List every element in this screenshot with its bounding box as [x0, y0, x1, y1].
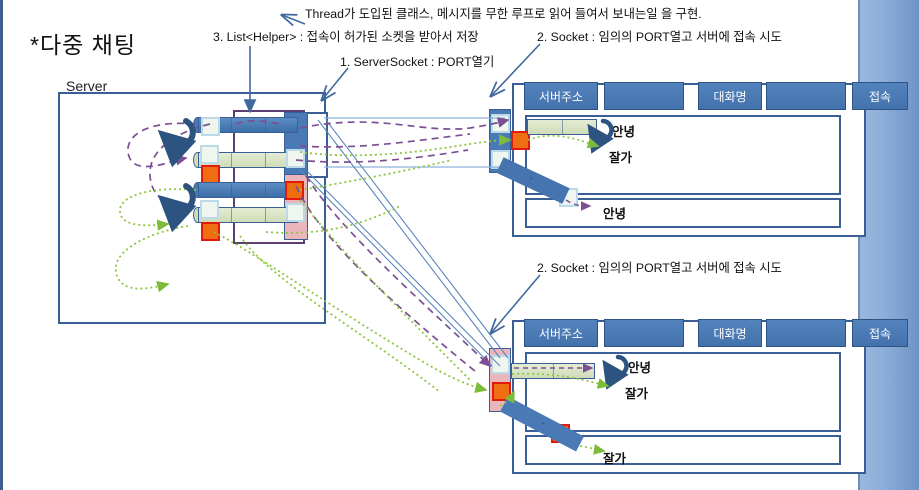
- slide-canvas: *다중 채팅 Server Thread가 도입된 클래스, 메시지를 무한 루…: [0, 0, 919, 490]
- left-edge-rail: [0, 0, 3, 490]
- nick-input-top[interactable]: [766, 82, 846, 110]
- chat-input-bottom[interactable]: [525, 435, 841, 465]
- client-socket-marker-bottom: [492, 382, 511, 401]
- client-stream-box-top-2: [491, 150, 510, 169]
- nick-label-bottom: 대화명: [698, 319, 762, 347]
- note-server-socket: 1. ServerSocket : PORT열기: [340, 52, 494, 70]
- socket-slot-icebox-2: [286, 203, 305, 222]
- socket-marker-3: [285, 181, 304, 200]
- thread-cylinder-3: [198, 182, 298, 198]
- note-thread: Thread가 도입된 클래스, 메시지를 무한 루프로 읽어 들여서 보내는일…: [305, 4, 702, 22]
- address-label-top: 서버주소: [524, 82, 598, 110]
- client-stream-cylinder-bottom: [511, 363, 595, 379]
- stream-box-4: [200, 200, 219, 219]
- note-helper-list: 3. List<Helper> : 접속이 허가된 소켓을 받아서 저장: [213, 27, 479, 45]
- nick-label-top: 대화명: [698, 82, 762, 110]
- socket-slot-icebox-1: [286, 149, 305, 168]
- chat-input-text-top: 안녕: [603, 203, 626, 222]
- connect-button-top[interactable]: 접속: [852, 82, 908, 110]
- client-pipe-marker-bottom: [551, 424, 570, 443]
- address-label-bottom: 서버주소: [524, 319, 598, 347]
- client-stream-box-bottom-1: [491, 355, 510, 374]
- right-decorative-band: [860, 0, 919, 490]
- chat-message-bottom-2: 잘가: [625, 383, 648, 402]
- client-pipe-box-top: [559, 188, 578, 207]
- socket-marker-4: [201, 222, 220, 241]
- client-stream-cylinder-top: [527, 119, 597, 135]
- chat-message-top-2: 잘가: [609, 147, 632, 166]
- connect-button-bottom[interactable]: 접속: [852, 319, 908, 347]
- page-title: *다중 채팅: [30, 26, 136, 60]
- chat-input-text-bottom: 잘가: [603, 448, 626, 467]
- nick-input-bottom[interactable]: [766, 319, 846, 347]
- chat-message-top-1: 안녕: [612, 121, 635, 140]
- address-input-top[interactable]: [604, 82, 684, 110]
- client-stream-box-top-1: [491, 114, 510, 133]
- note-socket-bottom: 2. Socket : 임의의 PORT열고 서버에 접속 시도: [537, 258, 782, 276]
- chat-message-bottom-1: 안녕: [628, 357, 651, 376]
- stream-box-2: [200, 145, 219, 164]
- note-socket-top: 2. Socket : 임의의 PORT열고 서버에 접속 시도: [537, 27, 782, 45]
- address-input-bottom[interactable]: [604, 319, 684, 347]
- stream-box-1: [201, 117, 220, 136]
